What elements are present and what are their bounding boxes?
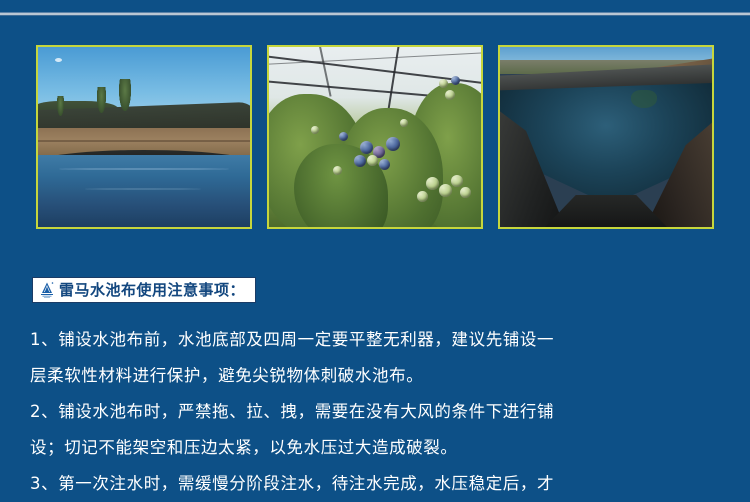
product-detail-page: { "theme": { "background": "#0d5087", "p… <box>0 0 750 497</box>
section-title: 雷马水池布使用注意事项： <box>59 283 245 298</box>
blueberry-ripe <box>354 155 366 167</box>
note-line: 2、铺设水池布时，严禁拖、拉、拽，需要在没有大风的条件下进行铺 <box>30 394 730 430</box>
photo-pond-lined <box>36 45 252 229</box>
pond-water <box>38 155 250 227</box>
blueberry-unripe <box>439 79 448 88</box>
tree <box>57 96 64 116</box>
blueberry-unripe <box>426 177 439 190</box>
section-heading-badge: 雷马水池布使用注意事项： <box>32 277 256 303</box>
photo-reservoir-geomembrane <box>498 45 714 229</box>
tree <box>119 79 131 111</box>
blueberry-ripe <box>386 137 400 151</box>
note-line: 设；切记不能架空和压边太紧，以免水压过大造成破裂。 <box>30 430 730 466</box>
photo-pond-lined-content <box>38 47 250 227</box>
tree <box>97 87 106 113</box>
blueberry-unripe <box>439 184 452 197</box>
blueberry-unripe <box>333 166 342 175</box>
water-reflection <box>631 90 656 108</box>
leima-brand-logo-icon <box>37 280 57 300</box>
blueberry-ripe <box>379 159 390 170</box>
photo-gallery <box>36 45 714 229</box>
note-line: 层柔软性材料进行保护，避免尖锐物体刺破水池布。 <box>30 358 730 394</box>
blueberry-ripe <box>360 141 373 154</box>
blueberry-unripe <box>367 155 378 166</box>
note-line: 1、铺设水池布前，水池底部及四周一定要平整无利器，建议先铺设一 <box>30 322 730 358</box>
cloud <box>55 58 62 62</box>
photo-blueberry-content <box>269 47 481 227</box>
photo-blueberry-bushes <box>267 45 483 229</box>
blueberry-ripe <box>339 132 348 141</box>
top-divider-rule <box>0 12 750 16</box>
usage-notes: 1、铺设水池布前，水池底部及四周一定要平整无利器，建议先铺设一 层柔软性材料进行… <box>30 322 730 502</box>
photo-reservoir-content <box>500 47 712 227</box>
